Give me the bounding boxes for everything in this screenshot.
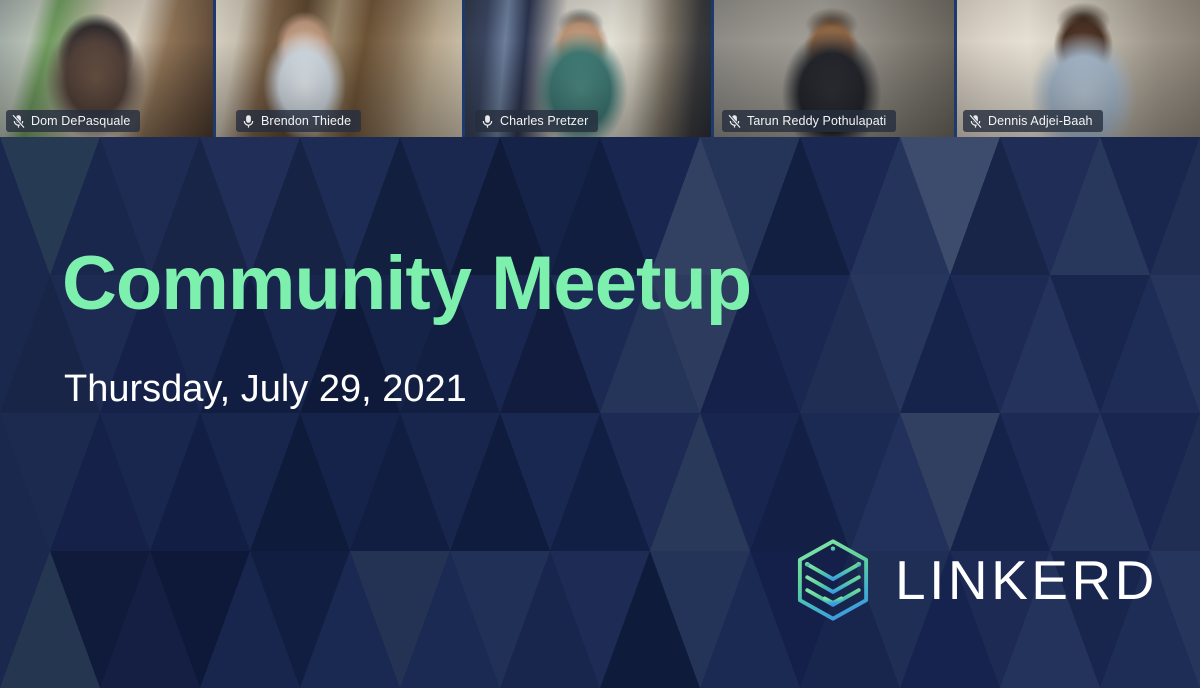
microphone-icon	[481, 114, 494, 129]
participant-nameplate: Charles Pretzer	[475, 110, 598, 132]
video-tile[interactable]: Dennis Adjei-Baah	[957, 0, 1200, 137]
participant-name: Charles Pretzer	[500, 115, 588, 128]
participant-nameplate: Brendon Thiede	[236, 110, 361, 132]
video-tile[interactable]: Tarun Reddy Pothulapati	[714, 0, 957, 137]
video-tile[interactable]: Dom DePasquale	[0, 0, 216, 137]
video-participant-strip: Dom DePasquale Brendon Thiede	[0, 0, 1200, 137]
participant-name: Brendon Thiede	[261, 115, 351, 128]
microphone-muted-icon	[728, 114, 741, 129]
linkerd-wordmark: LINKERD	[895, 553, 1158, 608]
event-date: Thursday, July 29, 2021	[64, 370, 467, 408]
linkerd-logo: LINKERD	[787, 534, 1158, 626]
linkerd-hex-logo-icon	[787, 534, 879, 626]
microphone-icon	[242, 114, 255, 129]
video-tile[interactable]: Charles Pretzer	[465, 0, 714, 137]
slide-canvas: Dom DePasquale Brendon Thiede	[0, 0, 1200, 688]
participant-nameplate: Tarun Reddy Pothulapati	[722, 110, 896, 132]
participant-nameplate: Dennis Adjei-Baah	[963, 110, 1103, 132]
participant-nameplate: Dom DePasquale	[6, 110, 140, 132]
participant-name: Dennis Adjei-Baah	[988, 115, 1093, 128]
participant-name: Dom DePasquale	[31, 115, 130, 128]
page-title: Community Meetup	[62, 246, 751, 322]
participant-name: Tarun Reddy Pothulapati	[747, 115, 886, 128]
microphone-muted-icon	[969, 114, 982, 129]
microphone-muted-icon	[12, 114, 25, 129]
video-tile[interactable]: Brendon Thiede	[216, 0, 465, 137]
